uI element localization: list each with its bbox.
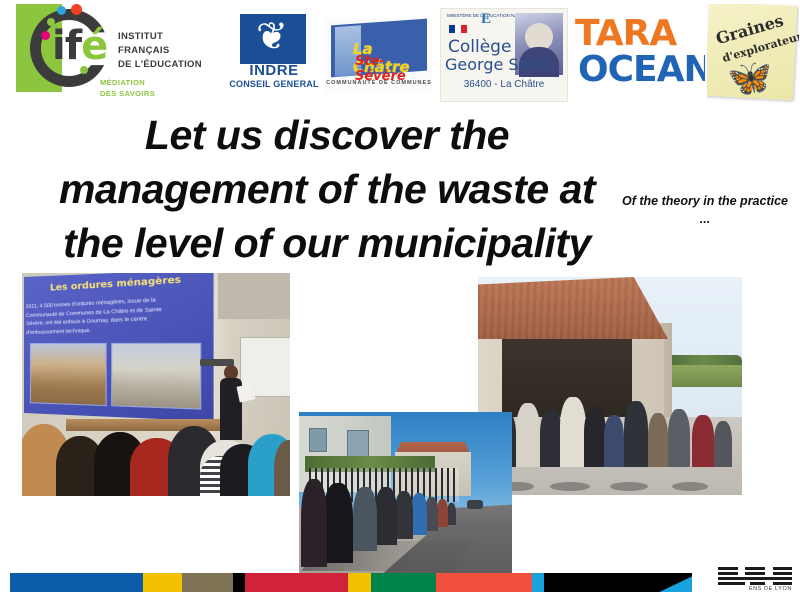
student-figure: [624, 401, 648, 467]
ground-shadow: [672, 482, 708, 491]
ens-logo-icon: ENS DE LYON: [718, 567, 792, 593]
field: [664, 365, 742, 387]
student-figure: [604, 415, 624, 467]
college-line1: Collège: [448, 37, 511, 57]
ens-cut: [738, 567, 745, 577]
indre-blue-square: ❦: [240, 14, 306, 64]
projected-slide-image-left: [30, 343, 107, 406]
indre-subtitle: CONSEIL GENERAL: [228, 79, 320, 89]
student-figure: [323, 483, 353, 563]
slide-title: Let us discover the management of the wa…: [34, 108, 620, 270]
projected-slide-body: 2011, 4 500 tonnes d'ordures ménagères, …: [26, 294, 205, 338]
presentation-slide: ifé INSTITUT FRANÇAIS DE L'ÉDUCATION MÉD…: [0, 0, 800, 600]
dove-icon: ❦: [256, 18, 288, 56]
student-figure: [648, 413, 668, 467]
butterfly-icon: 🦋: [727, 60, 772, 96]
ens-cut: [745, 580, 750, 585]
ife-institute-name: INSTITUT FRANÇAIS DE L'ÉDUCATION: [118, 30, 202, 71]
ground-shadow: [550, 482, 590, 491]
ife-institute-line3: DE L'ÉDUCATION: [118, 58, 202, 72]
footer-color-segment-2: [182, 573, 233, 592]
footer-color-segment-5: [348, 573, 371, 592]
tara-line1: TARA: [575, 16, 676, 52]
parked-car: [467, 500, 483, 509]
logo-la-chatre: La Châtre Ste-Sévère COMMUNAUTÉ DE COMMU…: [325, 18, 433, 92]
projected-slide: Les ordures ménagères 2011, 4 500 tonnes…: [24, 273, 214, 421]
logo-indre-conseil-general: ❦ INDRE CONSEIL GENERAL: [228, 14, 320, 94]
logo-tara-oceans: TARA OCEANS: [575, 16, 705, 94]
ife-tagline-line2: DES SAVOIRS: [100, 89, 155, 100]
indre-title: INDRE: [242, 62, 306, 79]
ife-dot-blue-icon: [57, 6, 66, 15]
tara-line2: OCEANS: [578, 52, 705, 88]
logo-ife: ifé INSTITUT FRANÇAIS DE L'ÉDUCATION MÉD…: [14, 4, 214, 104]
student-figure: [584, 407, 606, 467]
french-flag-icon: [449, 25, 467, 33]
student-figure: [447, 503, 456, 525]
landfill-building-visit-photo: [478, 277, 742, 495]
student-figure: [395, 491, 413, 539]
ens-cut: [765, 567, 773, 575]
student-figure: [375, 487, 397, 545]
footer-color-segment-6: [371, 573, 436, 592]
classroom-beam: [218, 273, 290, 319]
student-figure: [411, 493, 427, 535]
ife-institute-line1: INSTITUT: [118, 30, 202, 44]
ens-caption: ENS DE LYON: [718, 586, 792, 592]
college-line3: 36400 - La Châtre: [441, 79, 567, 90]
logo-college-george-sand: MINISTÈRE DE L'ÉDUCATION NATIONALE E Col…: [440, 8, 568, 102]
student-figure: [714, 421, 732, 467]
footer-color-segment-7: [436, 573, 532, 592]
student-figure: [301, 479, 327, 567]
ens-cut: [765, 580, 773, 585]
classroom-audience: [22, 410, 290, 496]
student-figure: [540, 409, 562, 467]
chatre-line2: Ste-Sévère: [355, 54, 433, 84]
logo-graines-explorateurs: Graines d'explorateurs 🦋: [707, 4, 799, 104]
footer-color-segment-3: [233, 573, 246, 592]
ife-institute-line2: FRANÇAIS: [118, 44, 202, 58]
student-figure: [437, 499, 448, 527]
ife-wordmark: ifé: [52, 26, 107, 66]
footer-color-segment-4: [245, 573, 348, 592]
street-walk-photo: [299, 412, 512, 573]
ife-wordmark-e: é: [81, 23, 107, 69]
projected-slide-image-right: [111, 343, 201, 410]
ife-wordmark-if: if: [52, 23, 81, 69]
student-figure: [560, 397, 586, 467]
student-figure: [516, 403, 540, 467]
college-line2: George SAND: [445, 55, 554, 74]
ife-tagline-line1: MÉDIATION: [100, 78, 155, 89]
student-figure: [353, 487, 377, 551]
footer-color-segment-0: [10, 573, 143, 592]
ground-shadow: [610, 482, 648, 491]
projected-slide-title: Les ordures ménagères: [50, 275, 181, 294]
ife-dot-red-icon: [71, 4, 82, 15]
partner-logo-bar: ifé INSTITUT FRANÇAIS DE L'ÉDUCATION MÉD…: [0, 0, 800, 108]
college-emblem-icon: E: [481, 11, 491, 28]
ife-dot-magenta-icon: [41, 31, 50, 40]
footer-color-segment-1: [143, 573, 182, 592]
student-figure: [668, 409, 690, 467]
presenter-paper: [237, 384, 256, 403]
student-figure: [692, 415, 714, 467]
slide-subtitle: Of the theory in the practice ...: [622, 192, 788, 228]
ens-bars: [718, 567, 792, 585]
ife-tagline: MÉDIATION DES SAVOIRS: [100, 78, 155, 99]
classroom-presentation-photo: Les ordures ménagères 2011, 4 500 tonnes…: [22, 273, 290, 496]
